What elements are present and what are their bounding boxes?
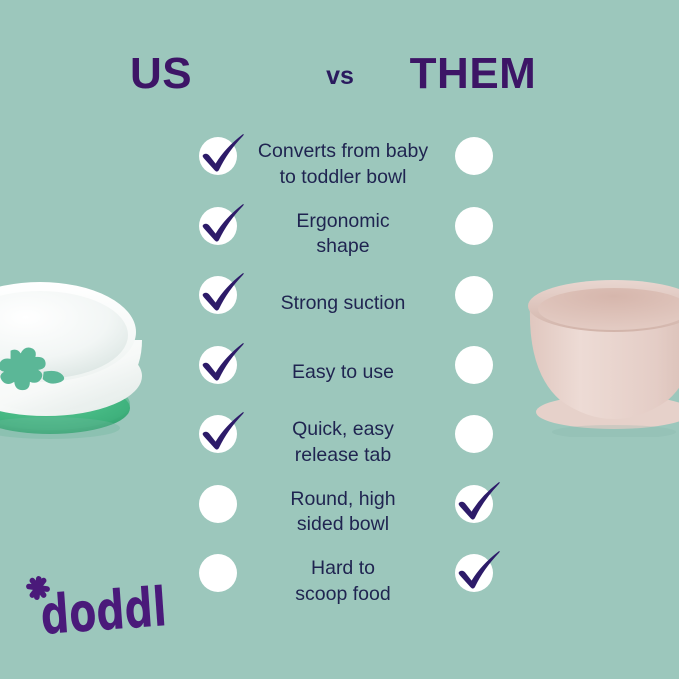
empty-circle [455,137,493,175]
feature-label: Easy to use [240,339,446,409]
empty-circle [199,485,237,523]
feature-label: Round, highsided bowl [240,478,446,548]
checked-circle [455,485,493,523]
empty-circle [455,207,493,245]
comparison-header: US vs THEM [0,52,679,108]
empty-circle [455,276,493,314]
mark-cell-them [434,130,514,200]
feature-label-line: Strong suction [281,291,406,317]
column-header-us: US [86,52,236,96]
product-image-competitor-bowl [516,272,679,437]
comparison-infographic: US vs THEM Converts from babyto toddler … [0,0,679,679]
column-header-them: THEM [398,52,548,96]
comparison-row: Converts from babyto toddler bowl [0,130,679,200]
feature-label-line: to toddler bowl [280,165,407,191]
empty-circle [455,415,493,453]
feature-label: Hard toscoop food [240,547,446,617]
checked-circle [199,137,237,175]
feature-label-line: Ergonomic [296,209,389,235]
brand-logo-doddl: doddl [18,572,190,656]
mark-cell-them [434,339,514,409]
feature-label-line: Hard to [311,556,375,582]
feature-label-line: scoop food [295,582,390,608]
checked-circle [199,207,237,245]
checked-circle [455,554,493,592]
checked-circle [199,415,237,453]
product-image-doddl-bowl [0,268,154,443]
feature-label-line: Converts from baby [258,139,428,165]
feature-label: Quick, easyrelease tab [240,408,446,478]
versus-label: vs [290,64,390,89]
feature-label-line: Round, high [290,487,395,513]
mark-cell-them [434,269,514,339]
logo-wordmark: doddl [39,575,169,647]
feature-label: Converts from babyto toddler bowl [240,130,446,200]
feature-label-line: sided bowl [297,512,389,538]
comparison-row: Ergonomicshape [0,200,679,270]
feature-label: Strong suction [240,269,446,339]
empty-circle [455,346,493,384]
feature-label-line: Easy to use [292,360,394,386]
mark-cell-them [434,200,514,270]
empty-circle [199,554,237,592]
feature-label-line: release tab [295,443,391,469]
feature-label: Ergonomicshape [240,200,446,270]
mark-cell-them [434,547,514,617]
feature-label-line: Quick, easy [292,417,394,443]
mark-cell-them [434,408,514,478]
checked-circle [199,276,237,314]
checked-circle [199,346,237,384]
feature-label-line: shape [316,234,369,260]
comparison-row: Round, highsided bowl [0,478,679,548]
mark-cell-them [434,478,514,548]
